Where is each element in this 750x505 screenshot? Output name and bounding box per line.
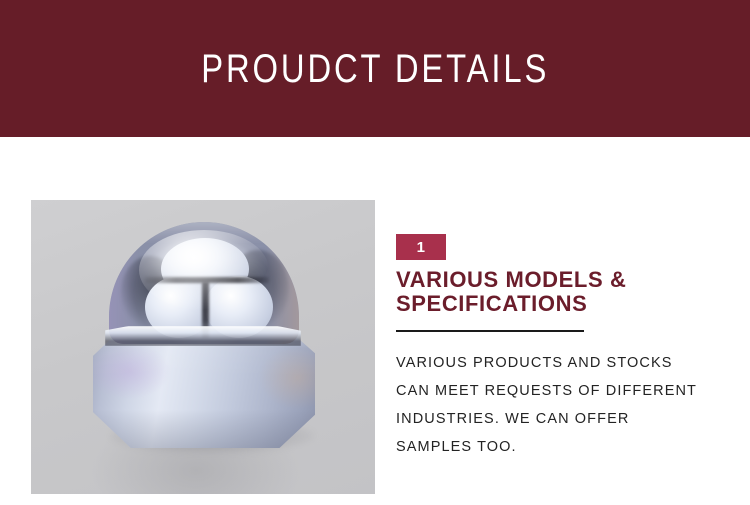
cap-nut-dome <box>109 222 299 344</box>
feature-heading: VARIOUS MODELS & SPECIFICATIONS <box>396 268 706 316</box>
page-header-banner: PROUDCT DETAILS <box>0 0 750 137</box>
feature-description: VARIOUS PRODUCTS AND STOCKS CAN MEET REQ… <box>396 349 704 461</box>
product-image-backdrop <box>31 200 375 494</box>
dome-base-seam <box>105 326 301 346</box>
heading-divider <box>396 330 584 332</box>
page-title: PROUDCT DETAILS <box>201 49 549 89</box>
content-area: 1 VARIOUS MODELS & SPECIFICATIONS VARIOU… <box>0 137 750 505</box>
dome-specular-highlight <box>139 230 269 310</box>
product-image <box>31 200 375 494</box>
feature-number-badge: 1 <box>396 234 446 260</box>
